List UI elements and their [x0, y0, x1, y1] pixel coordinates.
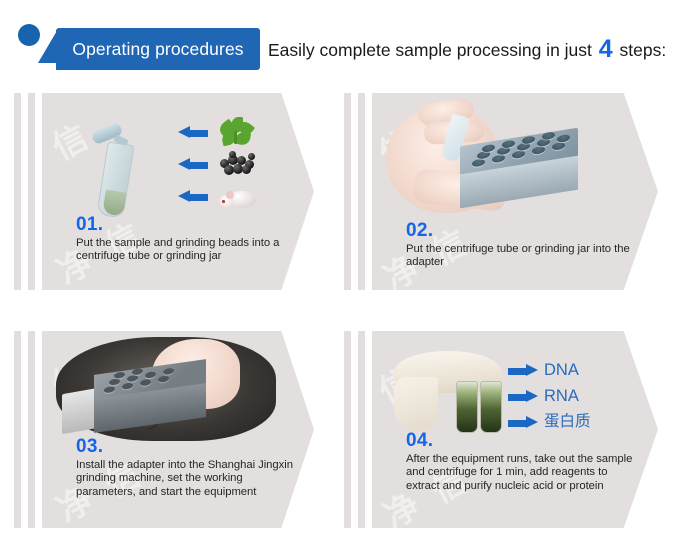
mouse-sample-icon [218, 185, 260, 211]
step-description: Put the centrifuge tube or grinding jar … [406, 243, 638, 270]
decor-bar-left-inner [358, 93, 365, 290]
step-caption-4: 04. After the equipment runs, take out t… [406, 431, 638, 493]
step-description: Put the sample and grinding beads into a… [76, 237, 294, 264]
step-description: After the equipment runs, take out the s… [406, 453, 638, 493]
mouse-ear [226, 191, 234, 199]
operating-procedures-badge: Operating procedures [38, 28, 260, 70]
output-label: DNA [544, 359, 579, 381]
step-photo-4 [394, 351, 526, 435]
grinding-beads-icon [218, 151, 258, 177]
arrow-left-icon [178, 190, 208, 203]
tagline-prefix: Easily complete sample processing in jus… [268, 40, 597, 60]
step-number: 01. [76, 215, 294, 235]
header-bullet-dot [18, 24, 40, 46]
badge-tail-icon [38, 29, 58, 63]
decor-bar-left-outer [344, 93, 351, 290]
arrow-left-icon [178, 126, 208, 139]
step-cell-2: 上海净信 上海净信 上海净信 [344, 85, 674, 298]
step-panel-1: 上海净信 上海净信 上海净信 [42, 93, 314, 290]
tagline-suffix: steps: [615, 40, 667, 60]
step-caption-1: 01. Put the sample and grinding beads in… [76, 215, 294, 264]
decor-bar-left-inner [28, 93, 35, 290]
gloved-thumb [394, 377, 438, 431]
decor-bar-left-outer [344, 331, 351, 528]
step-cell-4: 上海净信 上海净信 上海净信 DNA RNA [344, 323, 674, 536]
steps-row-bottom: 上海净信 上海净信 上海净信 [0, 323, 686, 536]
decor-bar-left-inner [358, 331, 365, 528]
step-panel-3: 上海净信 上海净信 上海净信 [42, 331, 314, 528]
step-cell-3: 上海净信 上海净信 上海净信 [14, 323, 344, 536]
arrow-right-icon [508, 390, 538, 403]
mouse-eye [222, 200, 225, 203]
tagline-step-count: 4 [597, 35, 615, 63]
step-number: 02. [406, 221, 638, 241]
decor-bar-left-outer [14, 93, 21, 290]
step-panel-4: 上海净信 上海净信 上海净信 DNA RNA [372, 331, 658, 528]
step-cell-1: 上海净信 上海净信 上海净信 [14, 85, 344, 298]
step-panel-2: 上海净信 上海净信 上海净信 [372, 93, 658, 290]
decor-bar-left-inner [28, 331, 35, 528]
step-caption-2: 02. Put the centrifuge tube or grinding … [406, 221, 638, 270]
step-number: 03. [76, 437, 294, 457]
output-label: RNA [544, 385, 579, 407]
decor-bar-left-outer [14, 331, 21, 528]
sample-tube-icon [456, 381, 478, 433]
step-caption-3: 03. Install the adapter into the Shangha… [76, 437, 294, 499]
step-description: Install the adapter into the Shanghai Ji… [76, 459, 294, 499]
output-label: 蛋白质 [544, 411, 591, 433]
centrifuge-tube-icon [90, 121, 136, 221]
steps-row-top: 上海净信 上海净信 上海净信 [0, 85, 686, 298]
page-header: Operating procedures Easily complete sam… [0, 0, 686, 84]
step-photo-3 [56, 337, 276, 441]
step-photo-2 [384, 99, 590, 217]
page-tagline: Easily complete sample processing in jus… [268, 28, 666, 70]
arrow-right-icon [508, 416, 538, 429]
badge-label: Operating procedures [56, 28, 260, 70]
sample-tube-icon [480, 381, 502, 433]
arrow-right-icon [508, 364, 538, 377]
leaf-sample-icon [218, 117, 254, 147]
arrow-left-icon [178, 158, 208, 171]
step-number: 04. [406, 431, 638, 451]
